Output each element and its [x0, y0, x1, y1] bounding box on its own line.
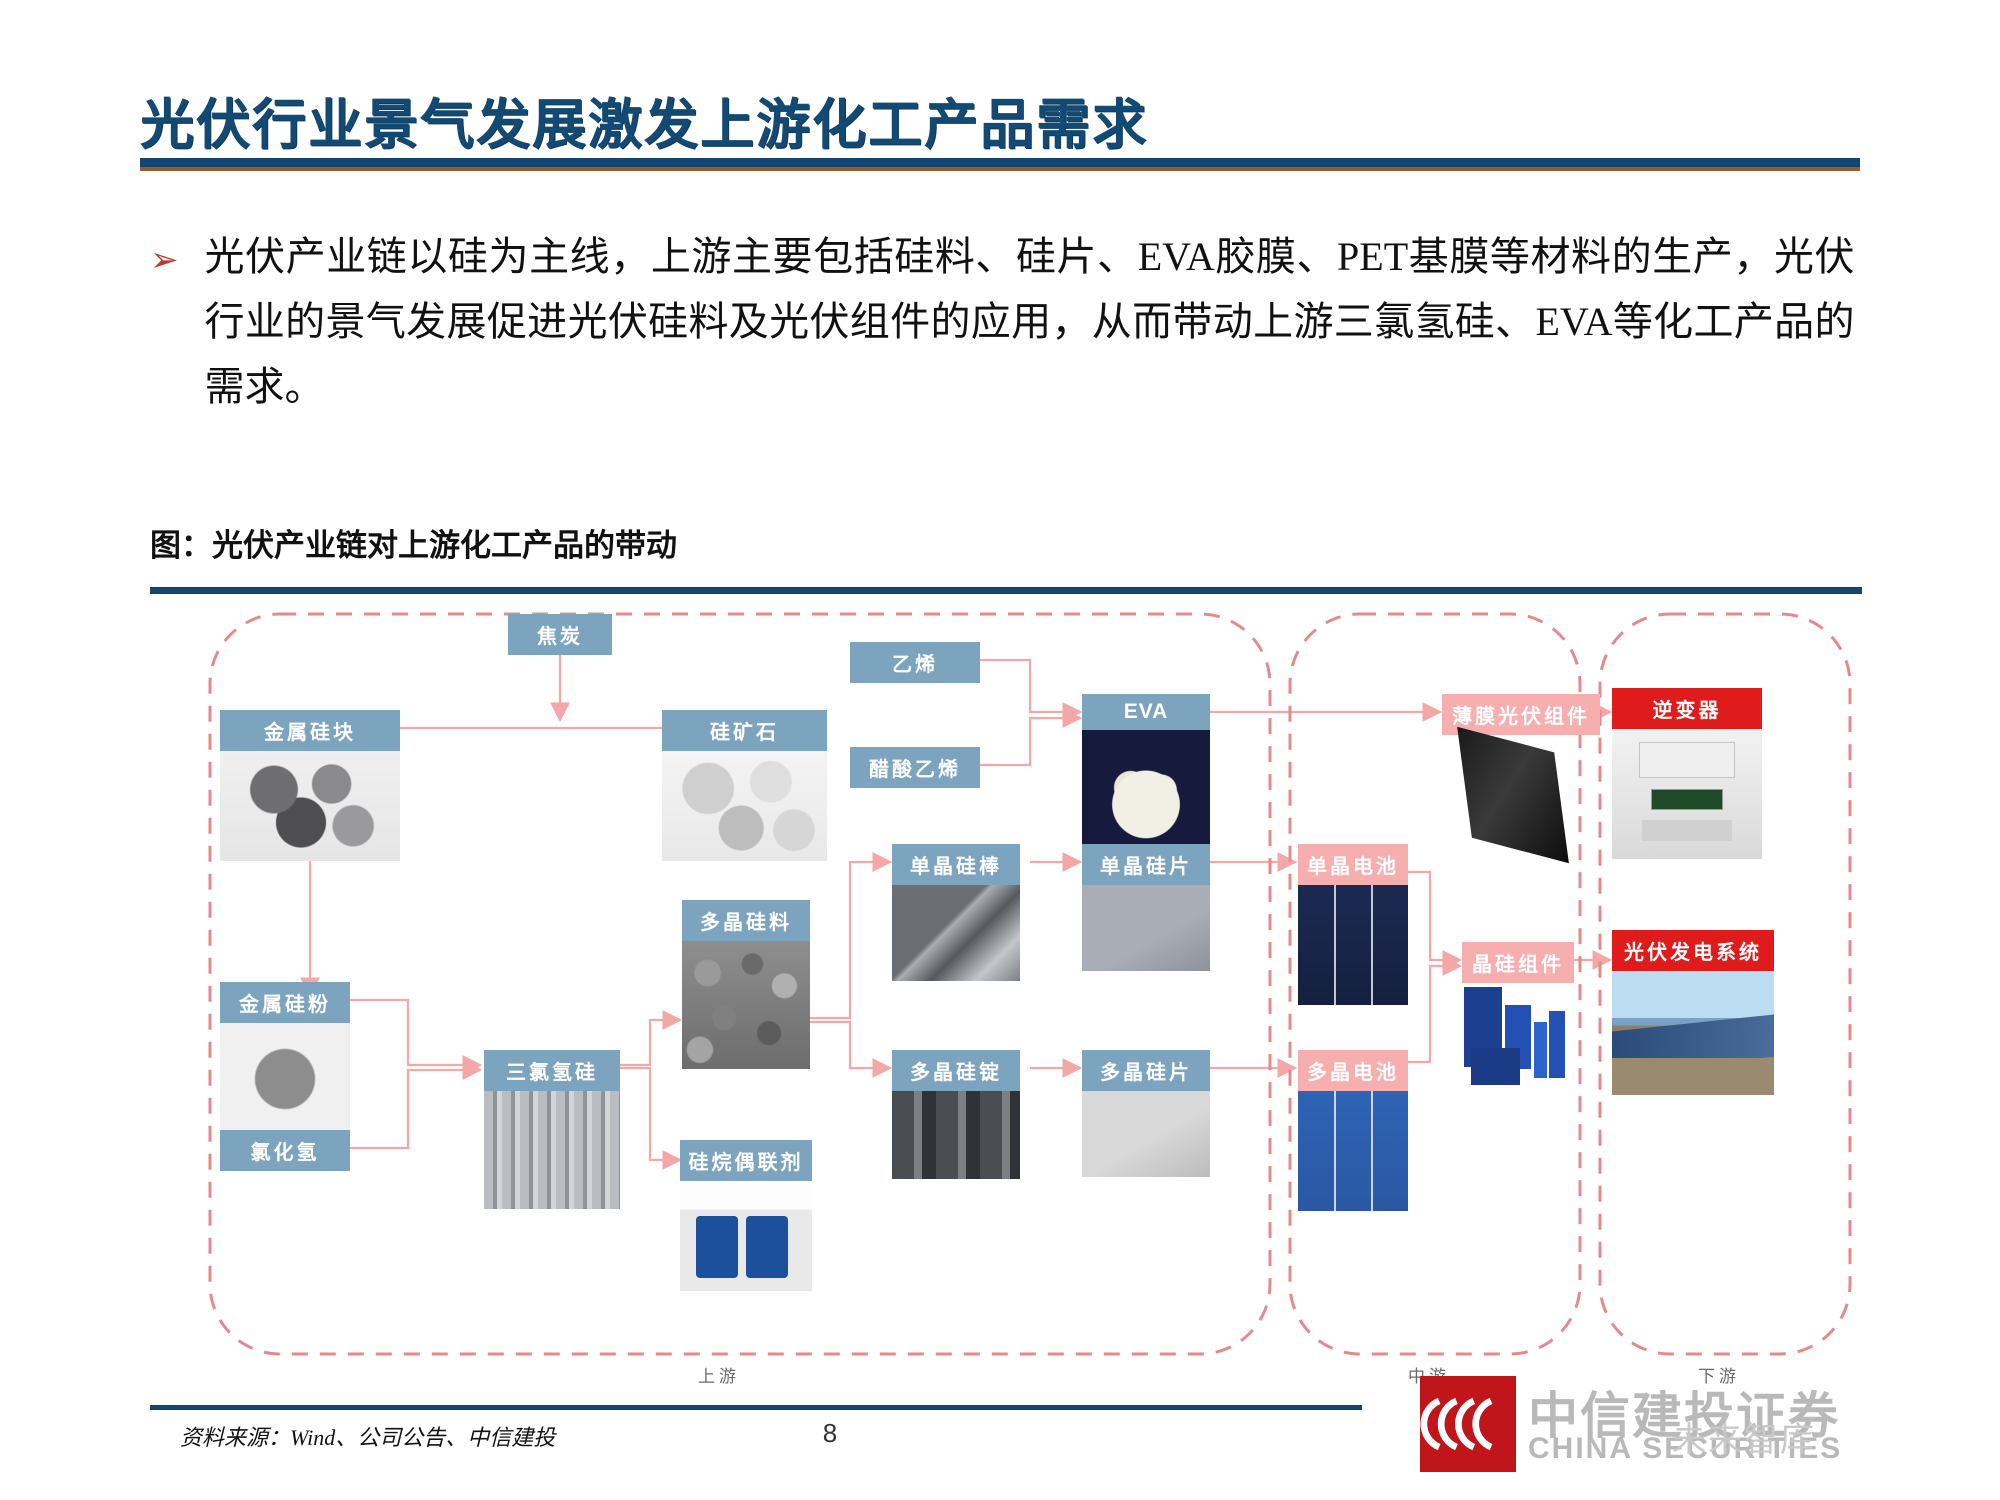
- node-silica-ore-label: 硅矿石: [662, 710, 827, 751]
- node-inverter-image: [1612, 729, 1762, 859]
- value-chain-diagram: 焦炭 金属硅块 硅矿石 乙烯 醋酸乙烯 EVA 金属硅粉 氯化氢 三氯氢: [150, 600, 1862, 1400]
- node-silane-image: [680, 1181, 812, 1291]
- node-silane[interactable]: 硅烷偶联剂: [680, 1140, 812, 1291]
- node-cs-module-image: [1462, 983, 1574, 1091]
- figure-caption: 图：光伏产业链对上游化工产品的带动: [150, 520, 677, 565]
- node-poly-ingot[interactable]: 多晶硅锭: [892, 1050, 1020, 1179]
- node-cs-module-label: 晶硅组件: [1462, 942, 1574, 983]
- node-eva-image: [1082, 730, 1210, 850]
- citic-logo-icon: [1420, 1376, 1516, 1472]
- node-mono-wafer[interactable]: 单晶硅片: [1082, 844, 1210, 971]
- node-poly-si-label: 多晶硅料: [682, 900, 810, 941]
- diagram-connectors: [150, 600, 1862, 1400]
- node-poly-wafer[interactable]: 多晶硅片: [1082, 1050, 1210, 1177]
- node-mono-rod-image: [892, 885, 1020, 981]
- node-thinfilm-module[interactable]: 薄膜光伏组件: [1442, 694, 1600, 855]
- node-si-powder-image: [220, 1023, 350, 1135]
- node-silica-ore-image: [662, 751, 827, 861]
- bullet-arrow-icon: ➢: [150, 243, 179, 419]
- node-mono-cell-image: [1298, 885, 1408, 1005]
- node-inverter[interactable]: 逆变器: [1612, 688, 1762, 859]
- node-hcl-label: 氯化氢: [220, 1130, 350, 1171]
- footer-divider: [150, 1405, 1362, 1410]
- node-ethylene[interactable]: 乙烯: [850, 642, 980, 683]
- node-tcs-label: 三氯氢硅: [484, 1050, 620, 1091]
- node-vam-label: 醋酸乙烯: [850, 747, 980, 788]
- node-poly-wafer-image: [1082, 1091, 1210, 1177]
- node-cs-module[interactable]: 晶硅组件: [1462, 942, 1574, 1091]
- node-mono-cell[interactable]: 单晶电池: [1298, 844, 1408, 1005]
- node-si-metal[interactable]: 金属硅块: [220, 710, 400, 861]
- slide: 光伏行业景气发展激发上游化工产品需求 ➢ 光伏产业链以硅为主线，上游主要包括硅料…: [0, 0, 2000, 1500]
- title-divider-brown: [140, 167, 1860, 171]
- node-poly-wafer-label: 多晶硅片: [1082, 1050, 1210, 1091]
- page-number: 8: [800, 1418, 860, 1449]
- node-thinfilm-module-image: [1442, 735, 1600, 855]
- node-tcs-image: [484, 1091, 620, 1209]
- node-mono-rod-label: 单晶硅棒: [892, 844, 1020, 885]
- node-tcs[interactable]: 三氯氢硅: [484, 1050, 620, 1209]
- page-title: 光伏行业景气发展激发上游化工产品需求: [140, 80, 1148, 159]
- node-coke-label: 焦炭: [508, 614, 612, 655]
- node-poly-cell-image: [1298, 1091, 1408, 1211]
- node-pv-system-image: [1612, 971, 1774, 1095]
- node-poly-ingot-label: 多晶硅锭: [892, 1050, 1020, 1091]
- node-mono-rod[interactable]: 单晶硅棒: [892, 844, 1020, 981]
- title-divider-blue: [140, 158, 1860, 167]
- source-note: 资料来源：Wind、公司公告、中信建投: [180, 1420, 555, 1452]
- node-si-metal-label: 金属硅块: [220, 710, 400, 751]
- node-pv-system[interactable]: 光伏发电系统: [1612, 930, 1774, 1095]
- node-poly-si-image: [682, 941, 810, 1069]
- node-inverter-label: 逆变器: [1612, 688, 1762, 729]
- node-pv-system-label: 光伏发电系统: [1612, 930, 1774, 971]
- node-coke[interactable]: 焦炭: [508, 614, 612, 655]
- watermark-text: 未来智库: [1672, 1412, 1816, 1461]
- node-si-powder-label: 金属硅粉: [220, 982, 350, 1023]
- node-poly-ingot-image: [892, 1091, 1020, 1179]
- node-silica-ore[interactable]: 硅矿石: [662, 710, 827, 861]
- node-poly-cell[interactable]: 多晶电池: [1298, 1050, 1408, 1211]
- node-silane-label: 硅烷偶联剂: [680, 1140, 812, 1181]
- figure-divider: [150, 587, 1862, 594]
- node-mono-wafer-label: 单晶硅片: [1082, 844, 1210, 885]
- node-si-metal-image: [220, 751, 400, 861]
- node-poly-cell-label: 多晶电池: [1298, 1050, 1408, 1091]
- node-mono-cell-label: 单晶电池: [1298, 844, 1408, 885]
- node-eva[interactable]: EVA: [1082, 694, 1210, 850]
- node-mono-wafer-image: [1082, 885, 1210, 971]
- node-poly-si[interactable]: 多晶硅料: [682, 900, 810, 1069]
- node-hcl[interactable]: 氯化氢: [220, 1130, 350, 1171]
- segment-caption-upstream: 上游: [698, 1362, 740, 1387]
- node-si-powder[interactable]: 金属硅粉: [220, 982, 350, 1135]
- node-vam[interactable]: 醋酸乙烯: [850, 747, 980, 788]
- node-eva-label: EVA: [1082, 694, 1210, 730]
- node-ethylene-label: 乙烯: [850, 642, 980, 683]
- bullet-paragraph-text: 光伏产业链以硅为主线，上游主要包括硅料、硅片、EVA胶膜、PET基膜等材料的生产…: [205, 225, 1855, 419]
- title-divider: [140, 158, 1860, 171]
- bullet-paragraph: ➢ 光伏产业链以硅为主线，上游主要包括硅料、硅片、EVA胶膜、PET基膜等材料的…: [150, 225, 1870, 419]
